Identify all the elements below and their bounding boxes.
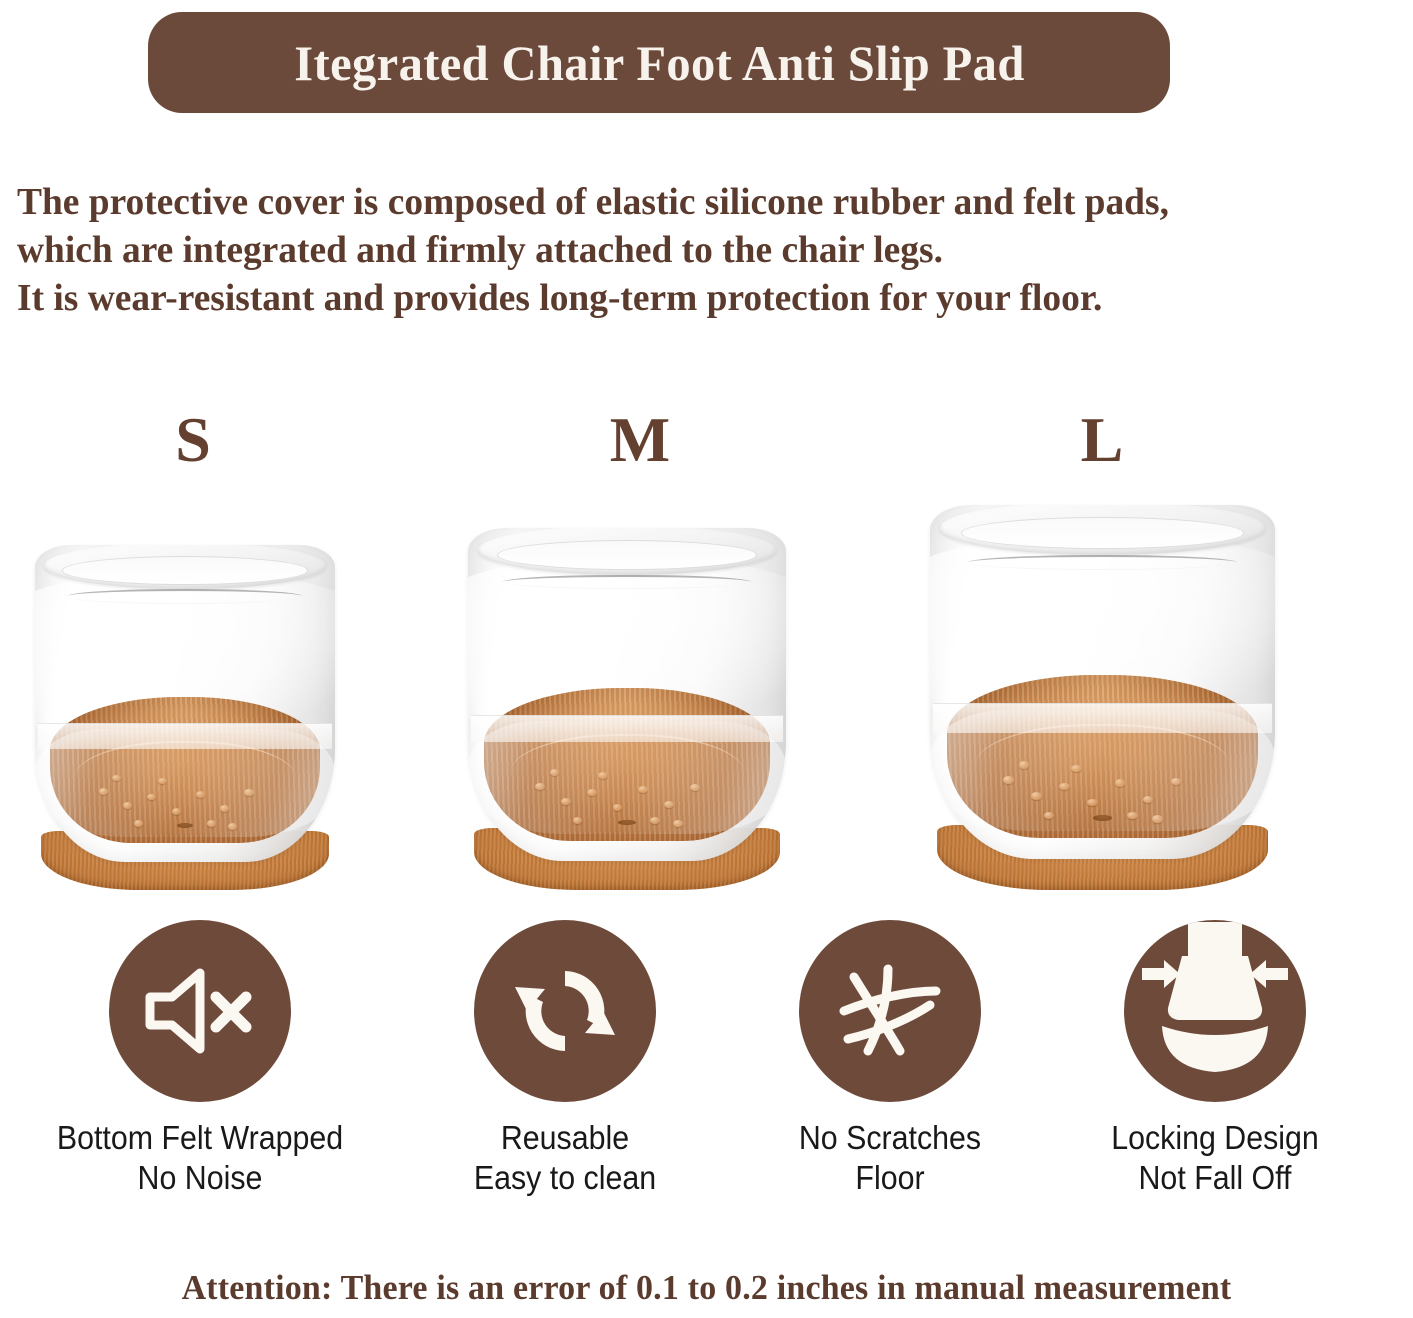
feature-locking-design: Locking Design Not Fall Off (1045, 920, 1385, 1198)
feature-caption-line-2: Not Fall Off (1059, 1158, 1372, 1198)
top-rim-inner (62, 556, 308, 585)
inner-felt-cup (484, 688, 770, 841)
attention-note: Attention: There is an error of 0.1 to 0… (21, 1268, 1392, 1308)
feature-caption-line-1: No Scratches (734, 1118, 1047, 1158)
description-line-3: It is wear-resistant and provides long-t… (17, 274, 1386, 322)
feature-no-scratches: No Scratches Floor (720, 920, 1060, 1198)
mute-speaker-icon (140, 957, 260, 1065)
anti-slip-nubs (947, 675, 1258, 838)
size-label-medium: M (580, 404, 700, 476)
rim-groove (968, 555, 1237, 570)
feature-icon-circle (474, 920, 656, 1102)
size-label-small: S (133, 404, 253, 476)
silicone-body (35, 545, 335, 862)
feature-icon-circle (1124, 920, 1306, 1102)
size-label-large: L (1042, 404, 1162, 476)
feature-caption-line-1: Bottom Felt Wrapped (44, 1118, 357, 1158)
description-line-1: The protective cover is composed of elas… (17, 178, 1386, 226)
feature-icon-circle (799, 920, 981, 1102)
feature-reusable: Reusable Easy to clean (395, 920, 735, 1198)
product-image-small (35, 545, 335, 890)
center-vent-hole (1093, 815, 1112, 821)
center-vent-hole (177, 823, 193, 828)
anti-slip-nubs (50, 697, 320, 843)
feature-caption: Locking Design Not Fall Off (1059, 1118, 1372, 1198)
rim-groove (503, 575, 751, 590)
feature-caption: Reusable Easy to clean (409, 1118, 722, 1198)
product-image-medium (468, 528, 786, 890)
feature-row: Bottom Felt Wrapped No Noise Reusable Ea… (0, 920, 1413, 1220)
rim-groove (68, 589, 302, 603)
feature-caption-line-2: No Noise (44, 1158, 357, 1198)
feature-caption-line-2: Easy to clean (409, 1158, 722, 1198)
silicone-body (930, 505, 1275, 859)
top-rim-inner (497, 540, 758, 570)
product-image-row (0, 490, 1413, 890)
no-scratches-icon (830, 955, 950, 1067)
feature-icon-circle (109, 920, 291, 1102)
recycle-arrows-icon (507, 953, 623, 1069)
silicone-body (468, 528, 786, 861)
inner-felt-cup (50, 697, 320, 843)
locking-grip-icon (1126, 922, 1304, 1100)
feature-caption-line-1: Reusable (409, 1118, 722, 1158)
feature-caption: No Scratches Floor (734, 1118, 1047, 1198)
description-line-2: which are integrated and firmly attached… (17, 226, 1386, 274)
page-title: Itegrated Chair Foot Anti Slip Pad (294, 34, 1024, 92)
inner-felt-cup (947, 675, 1258, 838)
product-image-large (930, 505, 1275, 890)
feature-caption-line-2: Floor (734, 1158, 1047, 1198)
anti-slip-nubs (484, 688, 770, 841)
feature-caption: Bottom Felt Wrapped No Noise (44, 1118, 357, 1198)
feature-bottom-felt-wrapped: Bottom Felt Wrapped No Noise (30, 920, 370, 1198)
description-paragraph: The protective cover is composed of elas… (17, 178, 1386, 322)
title-banner: Itegrated Chair Foot Anti Slip Pad (148, 12, 1170, 113)
feature-caption-line-1: Locking Design (1059, 1118, 1372, 1158)
center-vent-hole (618, 820, 635, 825)
size-label-row: S M L (0, 404, 1413, 476)
